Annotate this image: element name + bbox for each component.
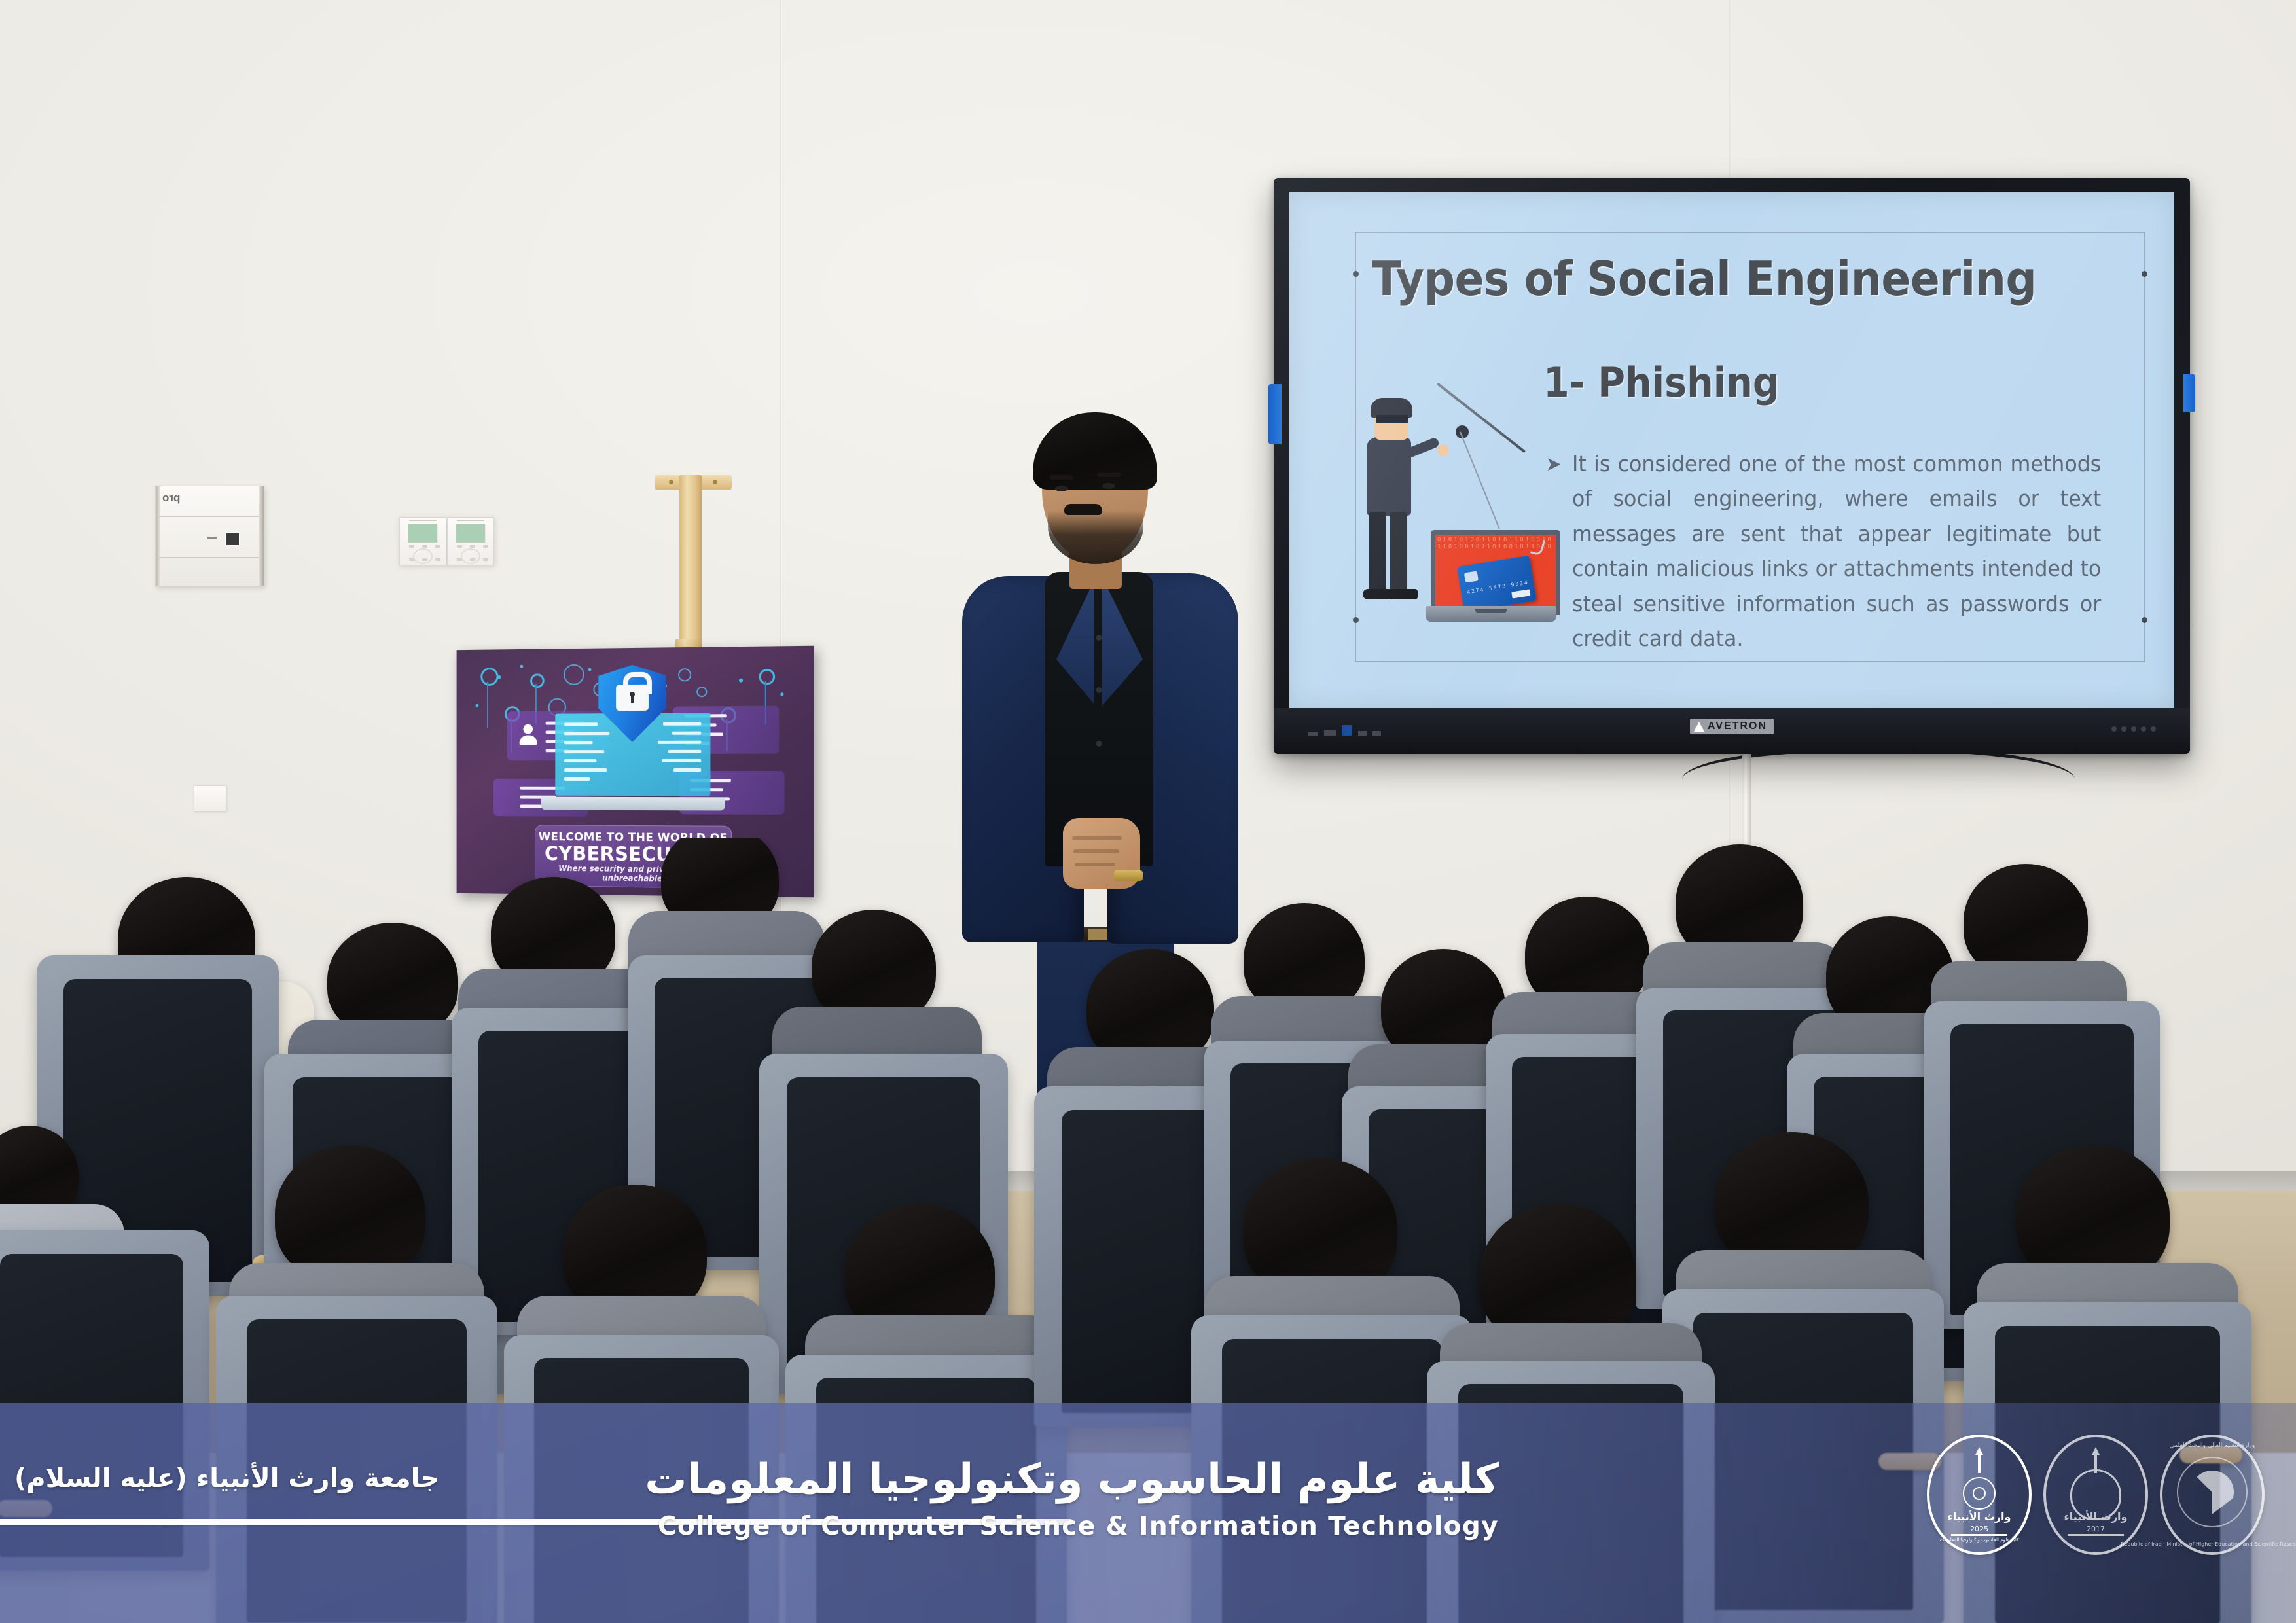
frame-dot (1353, 271, 1359, 277)
brand-triangle-icon (1694, 722, 1704, 732)
thermostat-lcd-display (408, 524, 437, 543)
panel-edge-right (259, 486, 264, 586)
display-brand-logo: AVETRON (1690, 719, 1774, 734)
panel-seam (157, 516, 259, 517)
ministry-english-label: Republic of Iraq · Ministry of Higher Ed… (2121, 1541, 2296, 1547)
thermostat-dial[interactable] (461, 548, 480, 564)
panel-marking (207, 537, 217, 539)
presenter-eyebrow (1050, 475, 1073, 480)
logo-year: 2025 (1970, 1525, 1988, 1533)
display-indicator-lights (2111, 726, 2156, 732)
thermostat-brand-strip (457, 520, 484, 521)
presenter-eyebrow (1097, 473, 1121, 477)
frame-dot (2142, 271, 2147, 277)
easel-post (679, 475, 702, 645)
logo-year: 2017 (2087, 1525, 2105, 1533)
ministry-arabic-label: وزارة التعليم العالي والبحث العلمي (2170, 1442, 2255, 1449)
panel-switch[interactable] (225, 532, 240, 546)
university-main-seal-logo: وارث الأنبياء 2017 (2043, 1435, 2148, 1555)
display-chin: AVETRON (1274, 708, 2190, 754)
display-brand-name: AVETRON (1708, 721, 1767, 732)
thermostat-right[interactable] (447, 517, 494, 565)
presenter-beard (1048, 510, 1143, 564)
college-name-english: College of Computer Science & Informatio… (658, 1512, 1499, 1541)
presenter-moustache (1064, 504, 1102, 515)
thermostat-lcd-display (456, 524, 485, 543)
laptop-icon: 0101010011010110100101101001011010010110… (1426, 530, 1556, 635)
university-name-arabic: جامعة وارث الأنبياء (عليه السلام) (14, 1463, 440, 1493)
thermostat-left[interactable] (399, 517, 446, 565)
presenter-eye (1102, 483, 1115, 489)
presenter-eye (1055, 486, 1068, 491)
frame-dot (1353, 617, 1359, 623)
slide-body-text: It is considered one of the most common … (1572, 451, 2101, 651)
padlock-icon (616, 685, 649, 711)
electrical-panel: pro (155, 486, 264, 586)
panel-brand-label: pro (162, 491, 180, 505)
thermostat-pair[interactable] (399, 517, 494, 565)
phishing-illustration: 0101010011010110100101101001011010010110… (1360, 389, 1556, 664)
thermostat-brand-strip (409, 520, 437, 521)
presentation-slide: Types of Social Engineering 1- Phishing … (1289, 192, 2174, 708)
panel-edge-left (156, 486, 160, 586)
institution-logos: وارث الأنبياء 2025 كلية علوم الحاسوب وتك… (1927, 1435, 2265, 1555)
frame-dot (2142, 617, 2147, 623)
logo-arabic-label: وارث الأنبياء (2064, 1510, 2128, 1523)
logo-arabic-label: وارث الأنبياء (1948, 1510, 2011, 1523)
slide-title: Types of Social Engineering (1372, 251, 2036, 306)
slide-subtitle: 1- Phishing (1543, 359, 1780, 406)
panel-seam (157, 557, 259, 558)
fishing-rod-icon (1437, 382, 1526, 453)
display-side-button-left[interactable] (1268, 384, 1282, 444)
ministry-seal-logo: وزارة التعليم العالي والبحث العلمي Repub… (2160, 1435, 2265, 1555)
user-avatar-icon (518, 723, 539, 745)
university-college-seal-logo: وارث الأنبياء 2025 كلية علوم الحاسوب وتك… (1927, 1435, 2032, 1555)
institution-banner: جامعة وارث الأنبياء (عليه السلام) كلية ع… (0, 1403, 2296, 1623)
slide-body-text-block: ➤ It is considered one of the most commo… (1572, 446, 2101, 656)
light-switch[interactable] (194, 785, 226, 811)
presentation-display: Types of Social Engineering 1- Phishing … (1274, 178, 2190, 754)
audience-head (275, 1145, 425, 1283)
college-name-arabic: كلية علوم الحاسوب وتكنولوجيا المعلومات (645, 1455, 1499, 1504)
display-screen[interactable]: Types of Social Engineering 1- Phishing … (1289, 192, 2174, 708)
screenshot-root: pro (0, 0, 2296, 1623)
logo-caption: كلية علوم الحاسوب وتكنولوجيا المعلومات (1940, 1537, 2019, 1543)
thermostat-dial[interactable] (413, 548, 433, 564)
display-ports (1308, 725, 1381, 736)
display-side-button-right[interactable] (2183, 374, 2195, 412)
